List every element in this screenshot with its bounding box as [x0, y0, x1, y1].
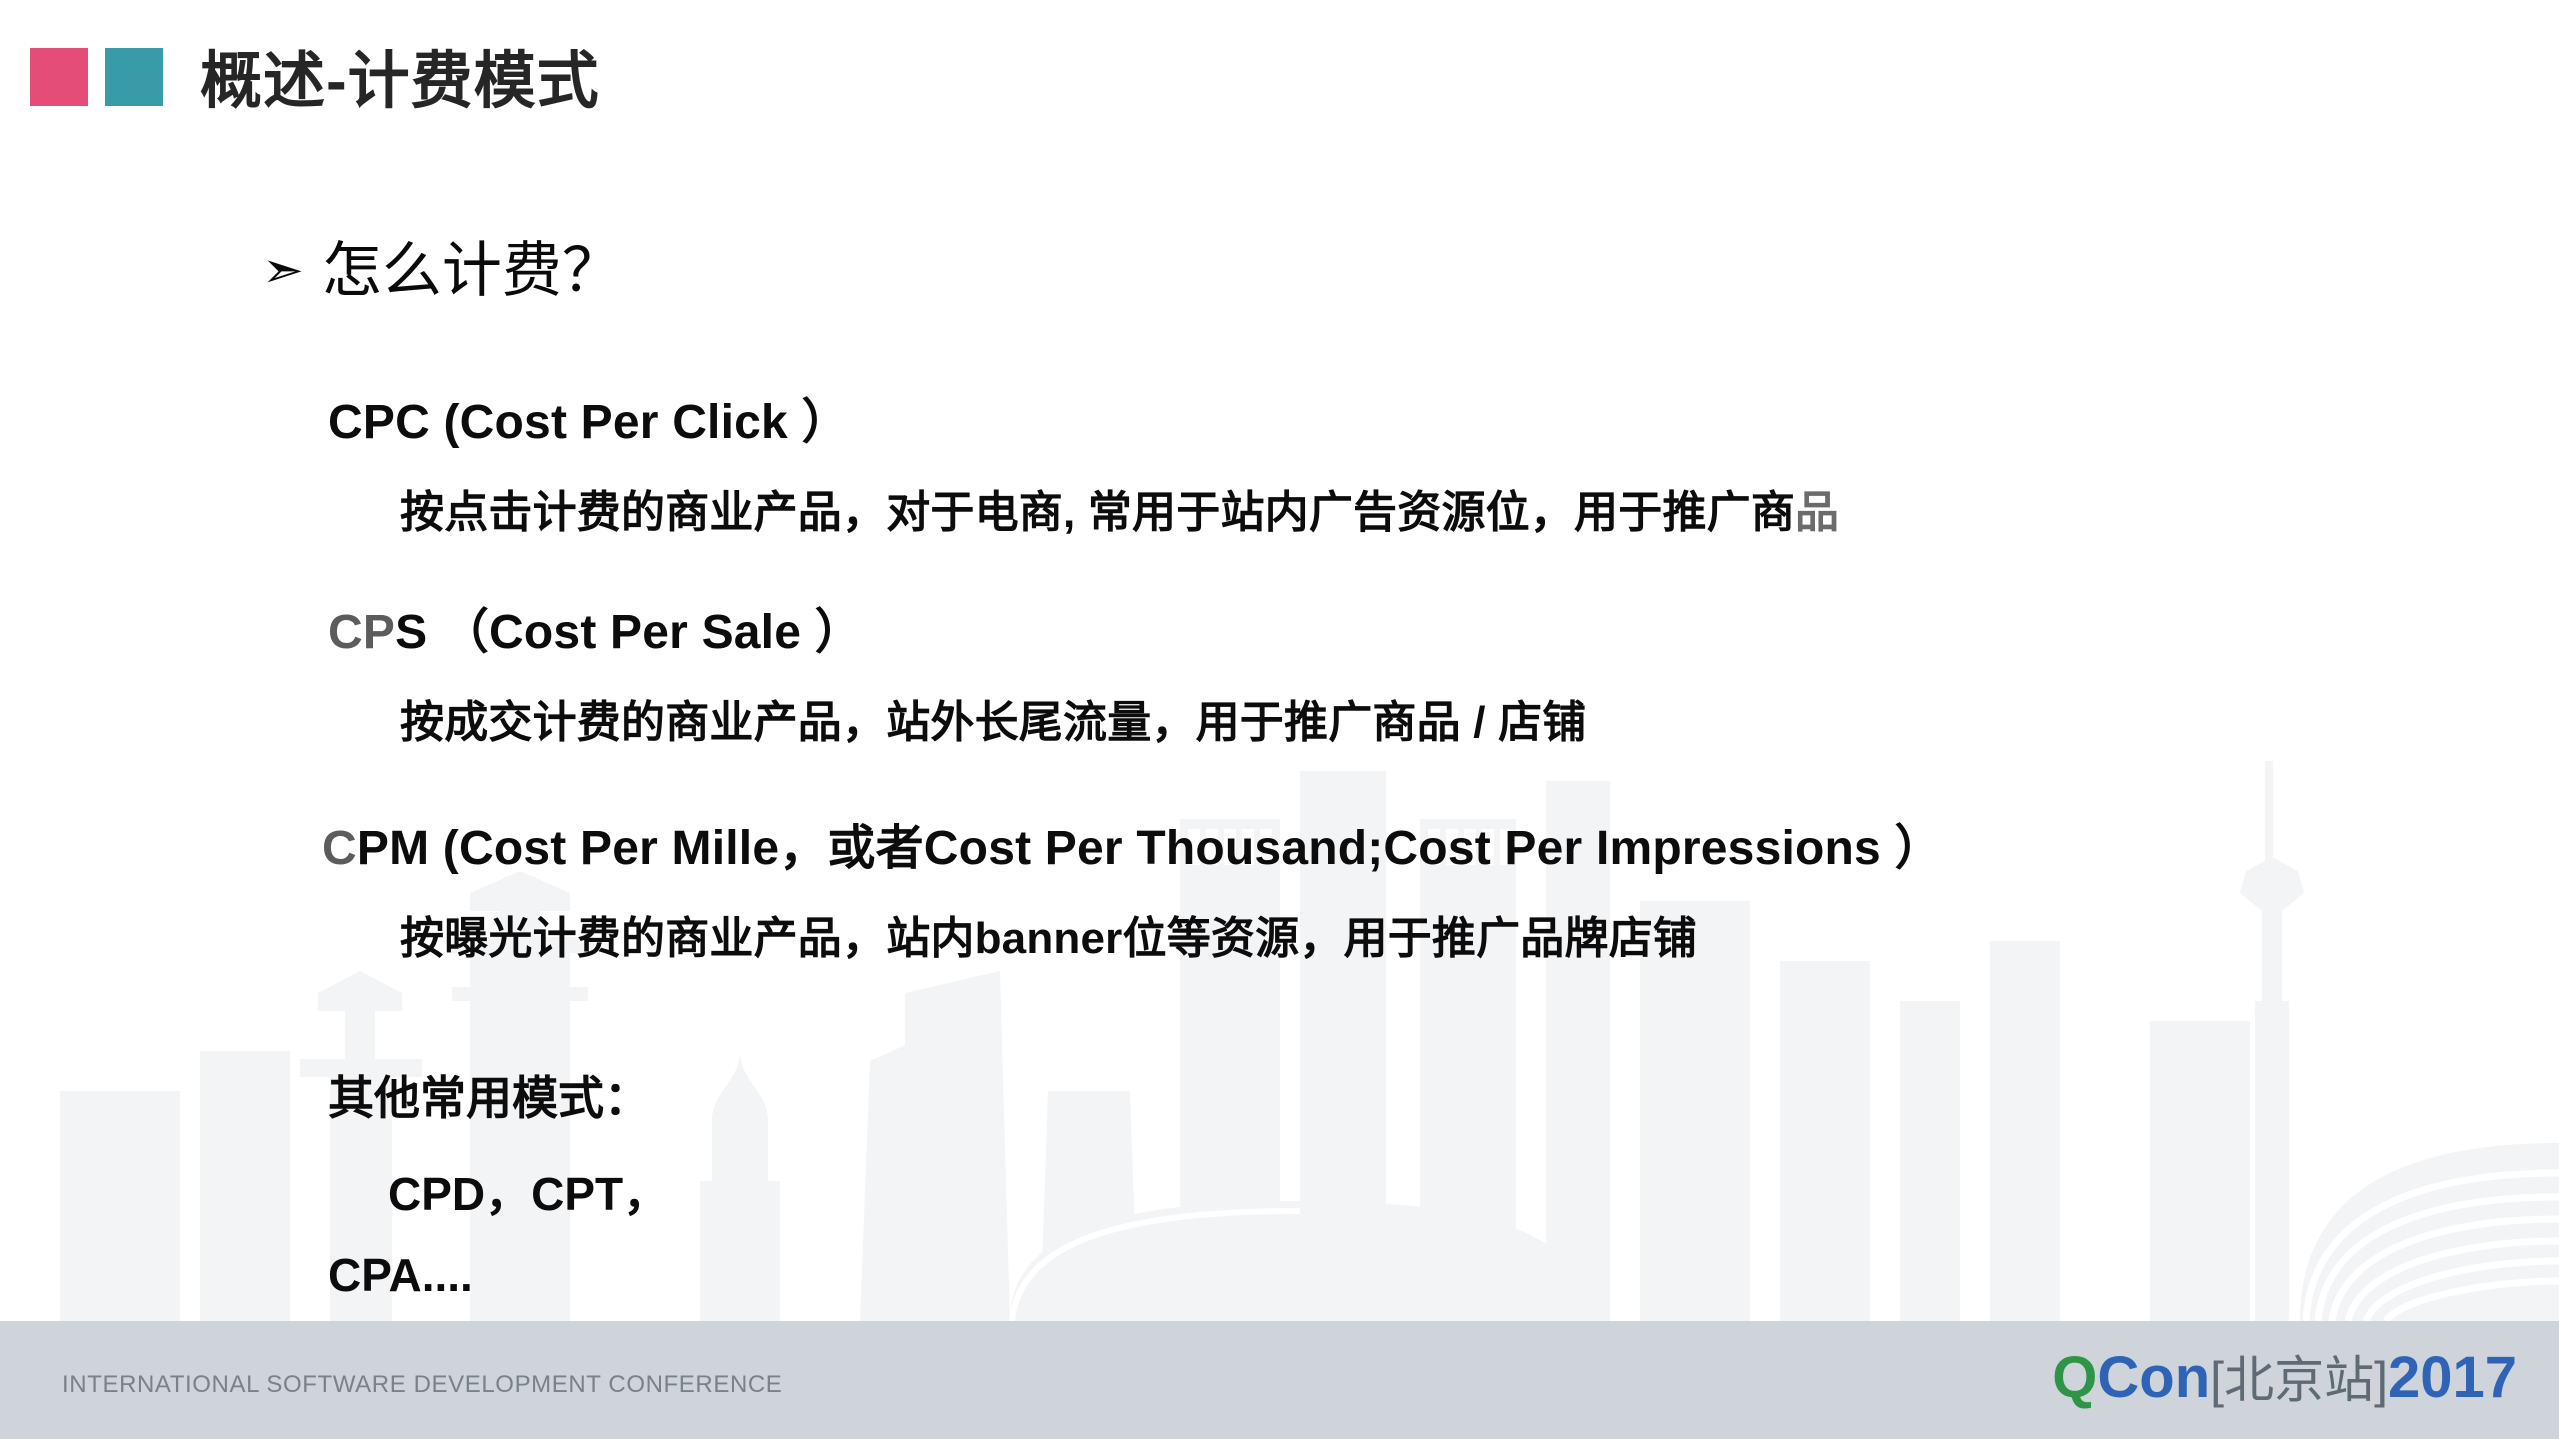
section-code-dim-cpm: C — [322, 822, 357, 875]
page-title: 概述-计费模式 — [200, 30, 600, 120]
section-heading-cps: CPS （Cost Per Sale ） — [328, 592, 863, 662]
qcon-logo-con: Con — [2097, 1345, 2210, 1410]
section-heading-text-cps: S （Cost Per Sale ） — [395, 606, 863, 659]
conference-name: INTERNATIONAL SOFTWARE DEVELOPMENT CONFE… — [62, 1371, 782, 1399]
question-text: 怎么计费？ — [322, 238, 622, 304]
question-heading: ➣怎么计费？ — [262, 222, 622, 309]
section-description-text-cpm: 按曝光计费的商业产品，站内banner位等资源，用于推广品牌店铺 — [400, 914, 1697, 963]
marker-square-pink — [30, 48, 88, 106]
section-description-text-cpc: 按点击计费的商业产品，对于电商, 常用于站内广告资源位，用于推广商 — [400, 488, 1795, 537]
qcon-logo-year: 2017 — [2388, 1345, 2517, 1410]
qcon-logo-q: Q — [2052, 1345, 2097, 1410]
qcon-logo: QCon[北京站]2017 — [2052, 1349, 2517, 1407]
section-description-cpc: 按点击计费的商业产品，对于电商, 常用于站内广告资源位，用于推广商品 — [400, 476, 1839, 540]
arrow-bullet-icon: ➣ — [262, 241, 304, 299]
other-modes-title: 其他常用模式： — [328, 1062, 650, 1128]
section-heading-text-cpm: PM (Cost Per Mille，或者Cost Per Thousand;C… — [357, 822, 1943, 875]
section-heading-text-cpc: CPC (Cost Per Click ） — [328, 396, 850, 449]
slide-header: 概述-计费模式 — [0, 0, 2559, 130]
other-modes-line-1: CPD，CPT， — [388, 1158, 669, 1224]
marker-square-teal — [105, 48, 163, 106]
section-description-cps: 按成交计费的商业产品，站外长尾流量，用于推广商品 / 店铺 — [400, 686, 1586, 750]
slide-footer: INTERNATIONAL SOFTWARE DEVELOPMENT CONFE… — [0, 1321, 2559, 1439]
section-description-text-cps: 按成交计费的商业产品，站外长尾流量，用于推广商品 / 店铺 — [400, 698, 1586, 747]
section-heading-cpc: CPC (Cost Per Click ） — [328, 382, 850, 452]
section-heading-cpm: CPM (Cost Per Mille，或者Cost Per Thousand;… — [322, 808, 1943, 878]
section-code-dim-cps: CP — [328, 606, 395, 659]
qcon-logo-city: [北京站] — [2210, 1352, 2388, 1408]
other-modes-line-2: CPA.... — [328, 1248, 473, 1302]
slide-body: ➣怎么计费？ CPC (Cost Per Click ） 按点击计费的商业产品，… — [0, 0, 2559, 1320]
section-description-tail-cpc: 品 — [1795, 488, 1839, 537]
section-description-cpm: 按曝光计费的商业产品，站内banner位等资源，用于推广品牌店铺 — [400, 902, 1697, 966]
